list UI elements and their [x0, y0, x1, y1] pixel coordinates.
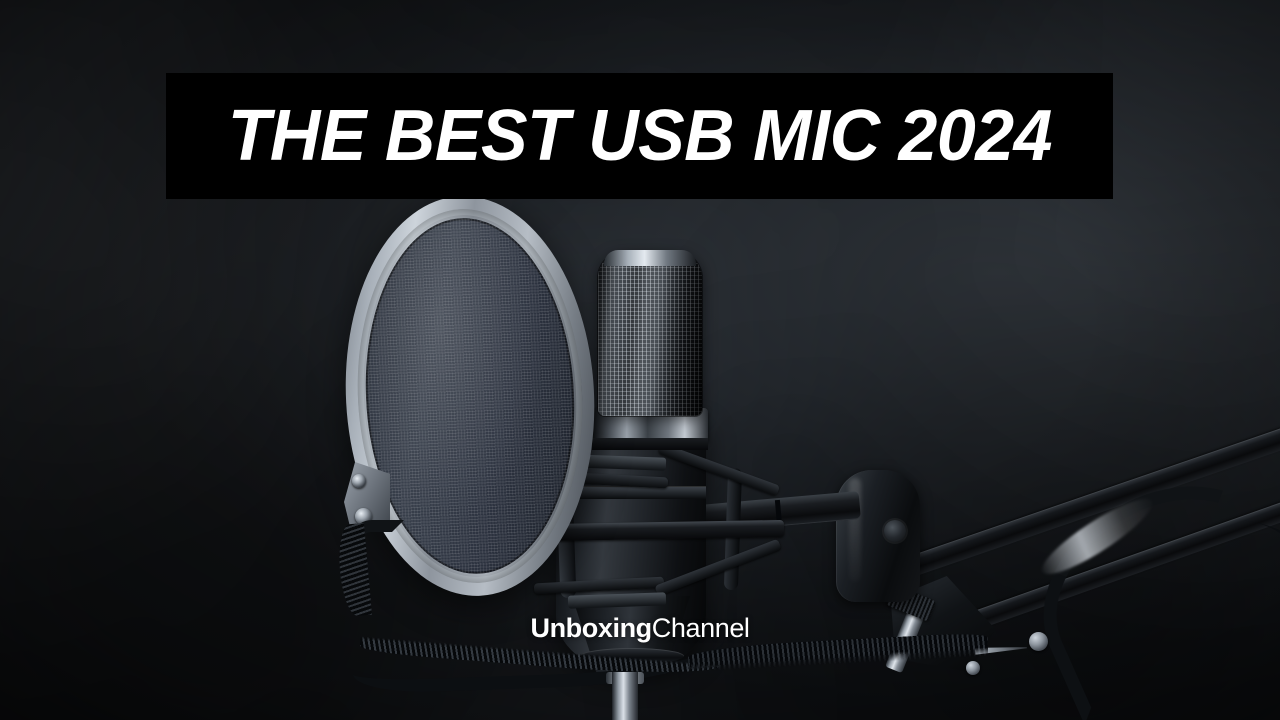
- tension-knob-dial: [884, 520, 906, 542]
- title-text: THE BEST USB MIC 2024: [227, 100, 1051, 172]
- watermark-bold-part: Unboxing: [530, 613, 651, 643]
- channel-watermark: UnboxingChannel: [0, 615, 1280, 642]
- tension-knob: [836, 470, 920, 602]
- shock-mount-strut-top-right: [658, 443, 780, 496]
- microphone-grille-cap: [604, 250, 696, 266]
- title-banner: THE BEST USB MIC 2024: [166, 73, 1113, 199]
- microphone-collar-shadow: [592, 438, 708, 450]
- microphone-grille: [598, 252, 702, 416]
- stand-column: [612, 672, 638, 720]
- shock-mount-spine: [548, 520, 784, 541]
- boom-arm-bolt-secondary: [966, 661, 980, 675]
- thumbnail-canvas: THE BEST USB MIC 2024 UnboxingChannel: [0, 0, 1280, 720]
- microphone-grille-shading: [598, 252, 702, 416]
- watermark-regular-part: Channel: [652, 613, 750, 643]
- pop-filter-screw-top: [352, 474, 366, 488]
- shock-mount-strut-bottom-right: [654, 539, 781, 597]
